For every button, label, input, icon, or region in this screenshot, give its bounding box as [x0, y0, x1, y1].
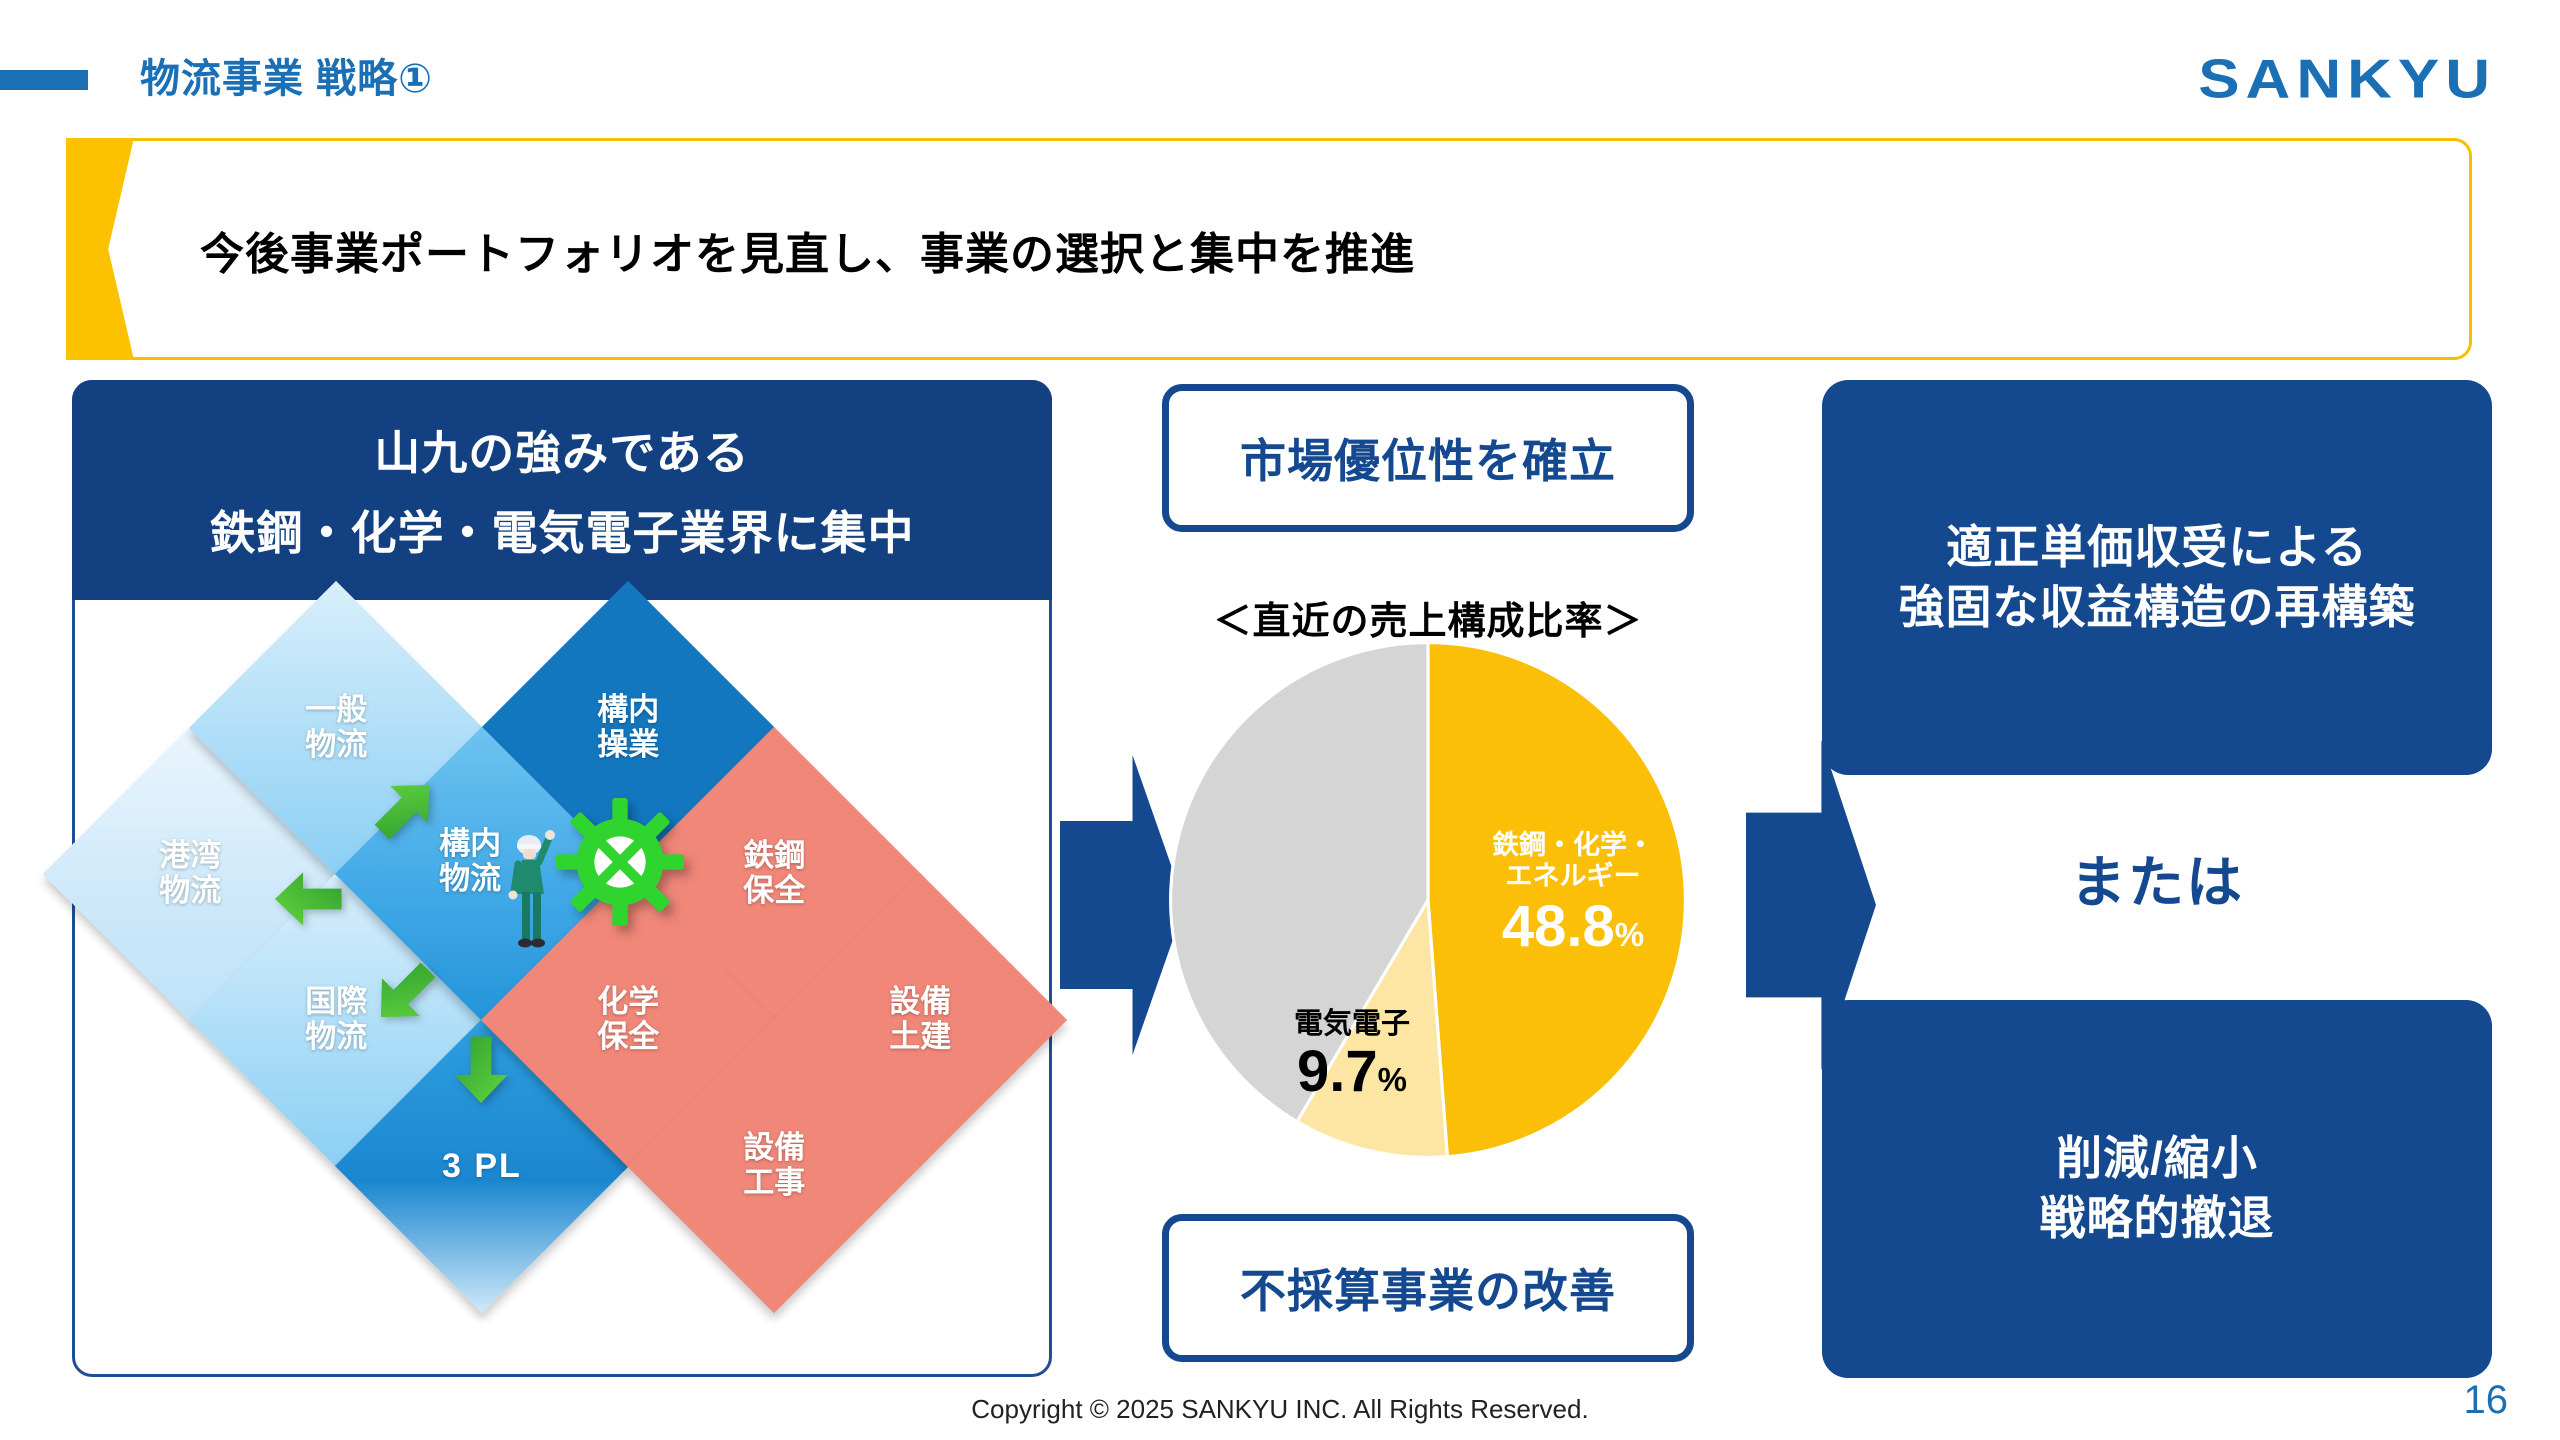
or-divider-label: または: [1822, 838, 2492, 919]
result-box-top-label: 適正単価収受による 強固な収益構造の再構築: [1899, 518, 2416, 638]
green-arrow-up-left-icon: [368, 772, 442, 846]
outcome-box-market-advantage[interactable]: 市場優位性を確立: [1162, 384, 1694, 532]
diamond-grid: 港湾 物流 一般 物流 国際 物流 構内 操業 構内 物流 3 PL 鉄鋼 保全…: [72, 600, 1052, 1377]
pie-chart-svg: [1168, 640, 1688, 1160]
outcome-box-top-label: 市場優位性を確立: [1240, 425, 1616, 491]
pie-slice: [1428, 643, 1685, 1157]
result-box-bottom-label: 削減/縮小 戦略的撤退: [2040, 1129, 2275, 1249]
banner-text: 今後事業ポートフォリオを見直し、事業の選択と集中を推進: [200, 218, 1415, 282]
green-arrow-down-icon: [444, 1032, 518, 1106]
left-panel-heading-line2: 鉄鋼・化学・電気電子業界に集中: [210, 497, 915, 563]
diamond-label: 港湾 物流: [159, 839, 221, 908]
result-box-revenue-structure[interactable]: 適正単価収受による 強固な収益構造の再構築: [1822, 380, 2492, 775]
diamond-label: 3 PL: [442, 1147, 522, 1185]
slide-root: 物流事業 戦略① SANKYU 今後事業ポートフォリオを見直し、事業の選択と集中…: [0, 0, 2560, 1440]
diamond-label: 設備 工事: [743, 1131, 805, 1200]
page-number: 16: [2464, 1378, 2509, 1423]
diamond-label: 国際 物流: [305, 985, 367, 1054]
left-panel-header: 山九の強みである 鉄鋼・化学・電気電子業界に集中: [72, 380, 1052, 600]
left-panel-heading-line1: 山九の強みである: [374, 417, 750, 483]
sankyu-logo: SANKYU: [2198, 48, 2496, 110]
green-arrow-left-icon: [272, 862, 346, 936]
page-title: 物流事業 戦略①: [140, 46, 433, 104]
header-accent-bar: [0, 70, 88, 90]
diamond-label: 構内 操業: [597, 693, 659, 762]
outcome-box-unprofitable-improvement[interactable]: 不採算事業の改善: [1162, 1214, 1694, 1362]
pie-chart-title: ＜直近の売上構成比率＞: [1162, 590, 1694, 645]
outcome-box-bottom-label: 不採算事業の改善: [1240, 1255, 1616, 1321]
result-box-strategic-withdrawal[interactable]: 削減/縮小 戦略的撤退: [1822, 1000, 2492, 1378]
diamond-label: 化学 保全: [597, 985, 659, 1054]
gear-icon: [556, 798, 684, 926]
worker-icon: [502, 818, 562, 968]
diamond-label: 設備 土建: [889, 985, 951, 1054]
diamond-label: 一般 物流: [305, 693, 367, 762]
copyright-text: Copyright © 2025 SANKYU INC. All Rights …: [0, 1394, 2560, 1425]
green-arrow-down-left-icon: [368, 956, 442, 1030]
diamond-label: 鉄鋼 保全: [743, 839, 805, 908]
diamond-label: 構内 物流: [439, 827, 501, 896]
pie-chart: [1168, 640, 1688, 1160]
flow-arrow-1-icon: [1060, 755, 1185, 1055]
